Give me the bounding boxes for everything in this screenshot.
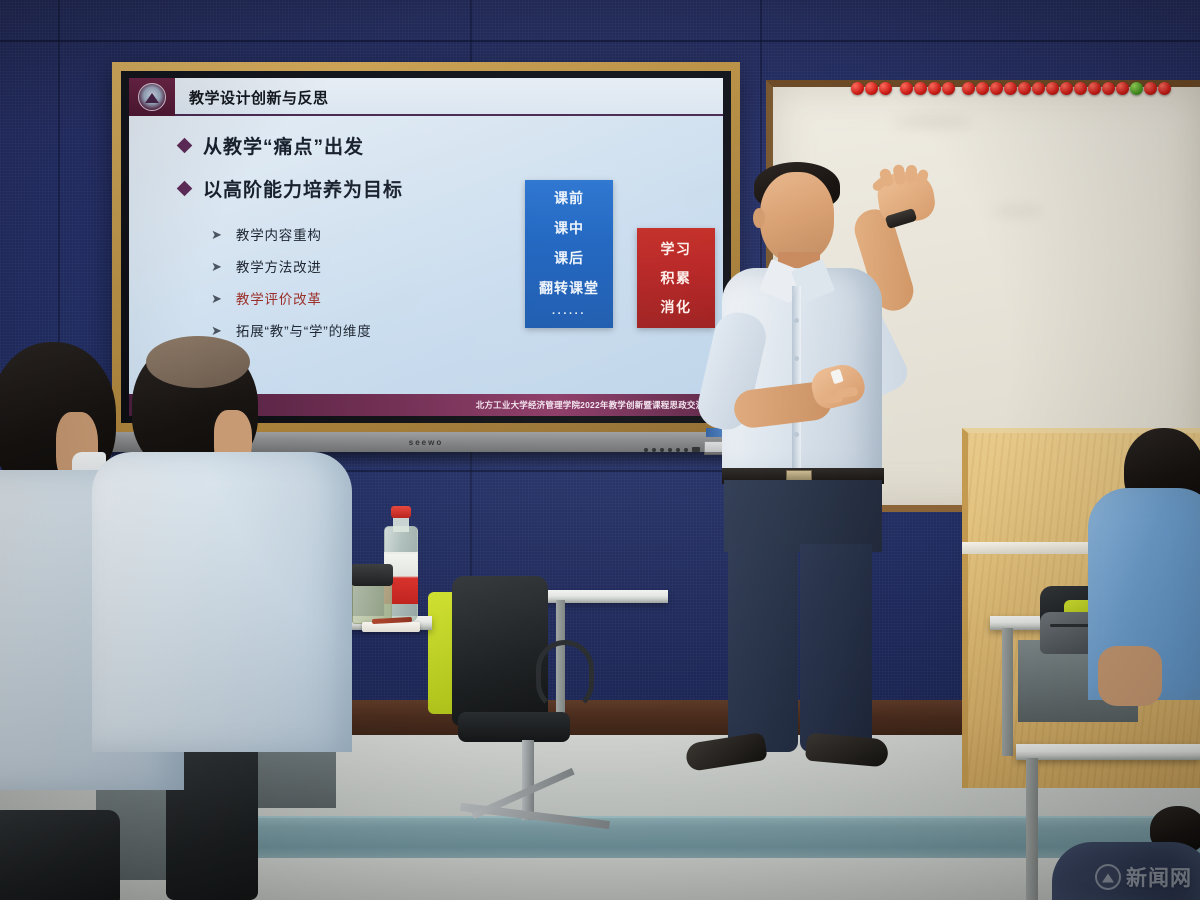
magnet (1060, 82, 1073, 95)
magnet (942, 82, 955, 95)
slide-header: 教学设计创新与反思 (129, 78, 723, 116)
presenter-ear (753, 208, 765, 228)
main-bullet-label: 以高阶能力培养为目标 (203, 175, 403, 202)
magnet-strip (851, 82, 1171, 95)
presenter-head (760, 172, 834, 262)
presenter (640, 160, 980, 800)
classroom-desk (1016, 744, 1200, 760)
whiteboard-smudge (993, 207, 1043, 215)
presenter-shoe-right (805, 732, 889, 767)
shirt-placket (792, 286, 801, 476)
magnet (1144, 82, 1157, 95)
blue-box-item: 课后 (554, 248, 584, 268)
chair-backrest[interactable] (452, 576, 548, 726)
chair-backrest[interactable] (0, 810, 120, 900)
magnet (851, 82, 864, 95)
emblem-shape (138, 83, 166, 111)
sub-bullet-label: 拓展“教”与“学”的维度 (236, 320, 372, 340)
magnet (976, 82, 989, 95)
presenter-leg-left (728, 544, 798, 752)
arrow-bullet-icon: ➤ (211, 260, 222, 273)
watermark: 新闻网 (1095, 862, 1192, 892)
shirt-button (794, 432, 799, 437)
chair-seat[interactable] (458, 712, 570, 742)
tea-jar-lid[interactable] (351, 564, 393, 586)
news-site-logo-icon (1095, 864, 1121, 890)
magnet (1088, 82, 1101, 95)
sub-bullet-item: ➤ 教学方法改进 (211, 256, 372, 276)
magnet (928, 82, 941, 95)
blue-box-item: 课中 (554, 218, 584, 238)
sub-bullet-item: ➤ 教学评价改革 (211, 288, 372, 308)
finger (916, 169, 930, 187)
main-bullet-item: 从教学“痛点”出发 (179, 132, 403, 159)
presenter-hips (724, 480, 882, 552)
main-bullet-item: 以高阶能力培养为目标 (179, 175, 403, 202)
magnet (1046, 82, 1059, 95)
magnet (962, 82, 975, 95)
magnet (1116, 82, 1129, 95)
finger (906, 165, 918, 183)
magnet (1102, 82, 1115, 95)
sub-bullet-item: ➤ 教学内容重构 (211, 224, 372, 244)
sub-bullet-label: 教学内容重构 (236, 224, 322, 244)
shirt-button (794, 318, 799, 323)
diamond-bullet-icon (177, 181, 193, 197)
finger (892, 164, 906, 185)
diamond-bullet-icon (177, 138, 193, 154)
sub-bullet-item: ➤ 拓展“教”与“学”的维度 (211, 320, 372, 340)
arrow-bullet-icon: ➤ (211, 228, 222, 241)
magnet (1032, 82, 1045, 95)
magnet (900, 82, 913, 95)
magnet (990, 82, 1003, 95)
notebook[interactable] (362, 622, 420, 632)
finger (835, 387, 858, 399)
presenter-shoe-left (684, 732, 767, 772)
blue-box-item: 翻转课堂 (539, 278, 599, 298)
magnet (1074, 82, 1087, 95)
university-emblem-icon (129, 78, 175, 116)
sub-bullet-list: ➤ 教学内容重构 ➤ 教学方法改进 ➤ 教学评价改革 ➤ (211, 224, 372, 352)
audience-scalp (146, 336, 250, 388)
audience-shirt (92, 452, 352, 752)
arrow-bullet-icon: ➤ (211, 292, 222, 305)
magnet (1018, 82, 1031, 95)
magnet-green (1130, 82, 1143, 95)
wall-seam (0, 40, 1200, 42)
watermark-label: 新闻网 (1126, 862, 1192, 892)
chair-armrest[interactable] (536, 640, 594, 712)
sub-bullet-label: 教学方法改进 (236, 256, 322, 276)
magnet (914, 82, 927, 95)
magnet (879, 82, 892, 95)
whiteboard-smudge (893, 117, 973, 127)
blue-box-ellipsis: ······ (552, 308, 586, 320)
display-brand-label: seewo (409, 438, 443, 447)
blue-box-item: 课前 (554, 188, 584, 208)
main-bullet-list: 从教学“痛点”出发 以高阶能力培养为目标 (179, 132, 403, 218)
main-bullet-label: 从教学“痛点”出发 (203, 132, 364, 159)
desk-leg (1026, 758, 1038, 900)
blue-phase-box: 课前 课中 课后 翻转课堂 ······ (525, 180, 613, 328)
magnet (1004, 82, 1017, 95)
desk-leg (1002, 628, 1013, 756)
sub-bullet-label-highlighted: 教学评价改革 (236, 288, 322, 308)
bottle-cap[interactable] (391, 506, 411, 518)
classroom-photo-scene: 教学设计创新与反思 从教学“痛点”出发 以高阶能力培养为目标 (0, 0, 1200, 900)
shirt-button (794, 356, 799, 361)
tea-jar[interactable] (352, 564, 394, 626)
chair-post (522, 740, 534, 820)
arrow-bullet-icon: ➤ (211, 324, 222, 337)
slide-title: 教学设计创新与反思 (175, 78, 723, 116)
presenter-leg-right (800, 544, 872, 752)
magnet (1158, 82, 1171, 95)
magnet (865, 82, 878, 95)
audience-arm (1098, 646, 1162, 706)
